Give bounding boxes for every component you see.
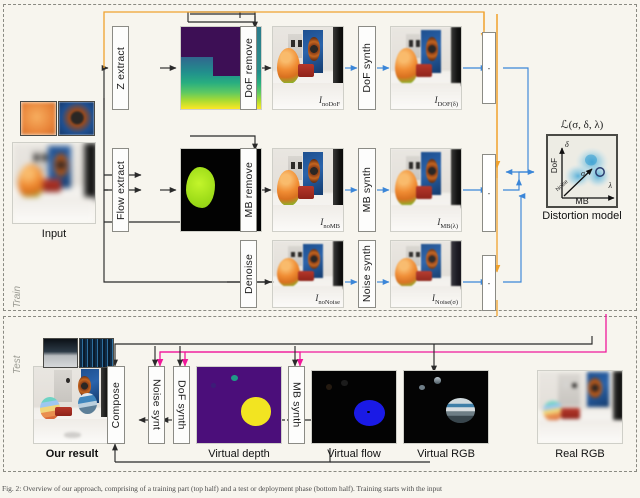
i-dof-caption: IDOF(δ) <box>435 95 458 108</box>
mb-axis-label: MB <box>548 196 616 206</box>
i-noise-tile: INoise(σ) <box>390 240 462 308</box>
noise-difference-block: - <box>482 255 496 311</box>
z-extract-label: Z extract <box>115 47 127 90</box>
mb-difference-block: - <box>482 154 496 232</box>
lambda-axis-symbol: λ <box>609 181 612 190</box>
mb-remove-label: MB remove <box>243 162 255 217</box>
dof-remove-block[interactable]: DoF remove <box>240 26 257 110</box>
test-dof-synth-label: DoF synth <box>176 380 188 430</box>
result-crop-2 <box>79 338 114 368</box>
loss-function-label: ℒ(σ, δ, λ) <box>534 118 630 131</box>
input-image <box>12 142 96 224</box>
i-dof-tile: IDOF(δ) <box>390 26 462 110</box>
compose-label: Compose <box>110 382 122 428</box>
test-mb-synth-label: MB synth <box>291 382 303 427</box>
dof-axis-label: DoF <box>550 158 559 173</box>
mb-synth-label: MB synth <box>361 167 373 212</box>
denoise-block[interactable]: Denoise <box>240 240 257 308</box>
i-nonoise-tile: InoNoise <box>272 240 344 308</box>
test-phase-label: Test <box>12 355 23 374</box>
dof-diff-symbol: - <box>488 64 491 73</box>
delta-axis-symbol: δ <box>565 140 569 149</box>
distortion-model-plot: δ λ DoF Noise σ MB <box>546 134 618 208</box>
mb-remove-block[interactable]: MB remove <box>240 148 257 232</box>
i-nodof-caption: InoDoF <box>319 95 340 108</box>
input-crop-2 <box>58 101 95 136</box>
real-rgb-tile <box>537 370 623 444</box>
mb-synth-block[interactable]: MB synth <box>358 148 376 232</box>
sigma-symbol: σ <box>581 169 585 178</box>
virtual-depth-tile <box>196 366 282 444</box>
input-label: Input <box>12 228 96 240</box>
flow-extract-block[interactable]: Flow extract <box>112 148 129 232</box>
dof-remove-label: DoF remove <box>243 38 255 98</box>
result-crop-1 <box>43 338 78 368</box>
our-result-image <box>33 366 111 444</box>
noise-diff-symbol: - <box>488 279 491 288</box>
i-mb-tile: IMB(λ) <box>390 148 462 232</box>
i-noise-caption: INoise(σ) <box>432 293 458 306</box>
i-mb-caption: IMB(λ) <box>437 217 458 230</box>
compose-block[interactable]: Compose <box>107 366 125 444</box>
denoise-label: Denoise <box>243 254 255 294</box>
i-nonoise-caption: InoNoise <box>315 293 340 306</box>
figure-root: Train Test <box>0 0 640 498</box>
z-extract-block[interactable]: Z extract <box>112 26 129 110</box>
input-crop-1 <box>20 101 57 136</box>
virtual-flow-tile <box>311 370 397 444</box>
distortion-model-title: Distortion model <box>534 210 630 222</box>
i-nomb-caption: InoMB <box>320 217 340 230</box>
virtual-rgb-label: Virtual RGB <box>397 448 495 460</box>
real-rgb-label: Real RGB <box>531 448 629 460</box>
virtual-flow-label: Virtual flow <box>305 448 403 460</box>
noise-synth-block[interactable]: Noise synth <box>358 240 376 308</box>
virtual-depth-label: Virtual depth <box>190 448 288 460</box>
test-dof-synth-block[interactable]: DoF synth <box>173 366 190 444</box>
noise-synth-label: Noise synth <box>361 245 373 302</box>
virtual-rgb-tile <box>403 370 489 444</box>
train-phase-label: Train <box>12 286 23 308</box>
dof-difference-block: - <box>482 32 496 104</box>
dof-synth-block[interactable]: DoF synth <box>358 26 376 110</box>
test-noise-synth-label: Noise synt <box>151 379 163 430</box>
figure-caption: Fig. 2: Overview of our approach, compri… <box>2 484 640 498</box>
flow-extract-label: Flow extract <box>115 161 127 220</box>
test-mb-synth-block[interactable]: MB synth <box>288 366 305 444</box>
i-nomb-tile: InoMB <box>272 148 344 232</box>
i-nodof-tile: InoDoF <box>272 26 344 110</box>
mb-diff-symbol: - <box>488 189 491 198</box>
dof-synth-label: DoF synth <box>361 43 373 93</box>
test-noise-synth-block[interactable]: Noise synt <box>148 366 165 444</box>
our-result-label: Our result <box>26 448 118 460</box>
